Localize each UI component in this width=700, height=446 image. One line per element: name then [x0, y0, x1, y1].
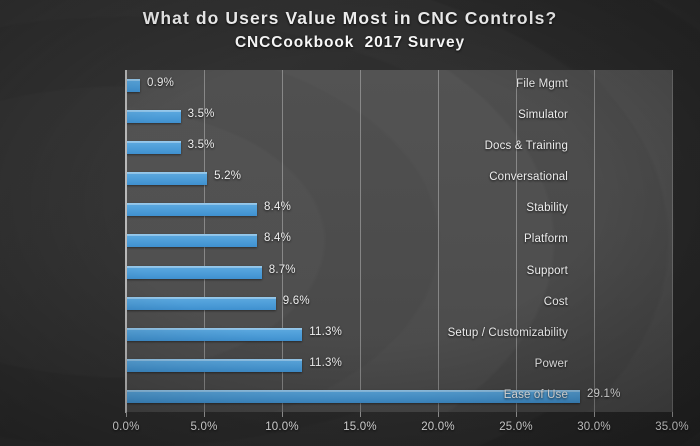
- x-axis-tick: [204, 412, 205, 417]
- bar-value-label: 5.2%: [214, 170, 241, 182]
- bar[interactable]: [126, 328, 302, 341]
- y-axis-line: [125, 70, 127, 413]
- bar-value-label: 8.4%: [264, 232, 291, 244]
- x-axis-tick: [282, 412, 283, 417]
- x-axis-tick-label: 15.0%: [325, 421, 395, 433]
- bar-value-label: 3.5%: [188, 108, 215, 120]
- bar[interactable]: [126, 141, 181, 154]
- bar-value-label: 29.1%: [587, 388, 621, 400]
- x-axis-tick: [438, 412, 439, 417]
- x-axis-tick-label: 10.0%: [247, 421, 317, 433]
- x-axis-tick-label: 0.0%: [91, 421, 161, 433]
- category-label: Docs & Training: [308, 140, 568, 152]
- x-axis-tick: [594, 412, 595, 417]
- x-axis-tick: [672, 412, 673, 417]
- category-label: Power: [308, 358, 568, 370]
- chart-subtitle: CNCCookbook 2017 Survey: [0, 32, 700, 53]
- category-label: Setup / Customizability: [308, 327, 568, 339]
- title-block: What do Users Value Most in CNC Controls…: [0, 7, 700, 53]
- chart-title: What do Users Value Most in CNC Controls…: [0, 7, 700, 29]
- x-axis-tick: [126, 412, 127, 417]
- bar-value-label: 0.9%: [147, 77, 174, 89]
- bar-chart-figure: What do Users Value Most in CNC Controls…: [0, 0, 700, 446]
- x-axis-tick-label: 30.0%: [559, 421, 629, 433]
- bar[interactable]: [126, 359, 302, 372]
- category-label: Ease of Use: [308, 389, 568, 401]
- bar-value-label: 8.4%: [264, 201, 291, 213]
- x-axis-tick-label: 5.0%: [169, 421, 239, 433]
- x-axis-tick-label: 25.0%: [481, 421, 551, 433]
- category-label: Platform: [308, 233, 568, 245]
- bar[interactable]: [126, 79, 140, 92]
- bar[interactable]: [126, 172, 207, 185]
- x-axis-tick-label: 20.0%: [403, 421, 473, 433]
- bar[interactable]: [126, 203, 257, 216]
- bar-value-label: 8.7%: [269, 264, 296, 276]
- category-label: Simulator: [308, 109, 568, 121]
- category-label: Conversational: [308, 171, 568, 183]
- bar[interactable]: [126, 234, 257, 247]
- category-label: Support: [308, 265, 568, 277]
- x-axis-tick: [516, 412, 517, 417]
- bar[interactable]: [126, 266, 262, 279]
- bar-value-label: 9.6%: [283, 295, 310, 307]
- bar-value-label: 3.5%: [188, 139, 215, 151]
- category-label: Cost: [308, 296, 568, 308]
- x-axis-tick-label: 35.0%: [637, 421, 700, 433]
- bar[interactable]: [126, 297, 276, 310]
- category-label: Stability: [308, 202, 568, 214]
- category-label: File Mgmt: [308, 78, 568, 90]
- gridline: [672, 70, 673, 412]
- x-axis-tick: [360, 412, 361, 417]
- bar[interactable]: [126, 110, 181, 123]
